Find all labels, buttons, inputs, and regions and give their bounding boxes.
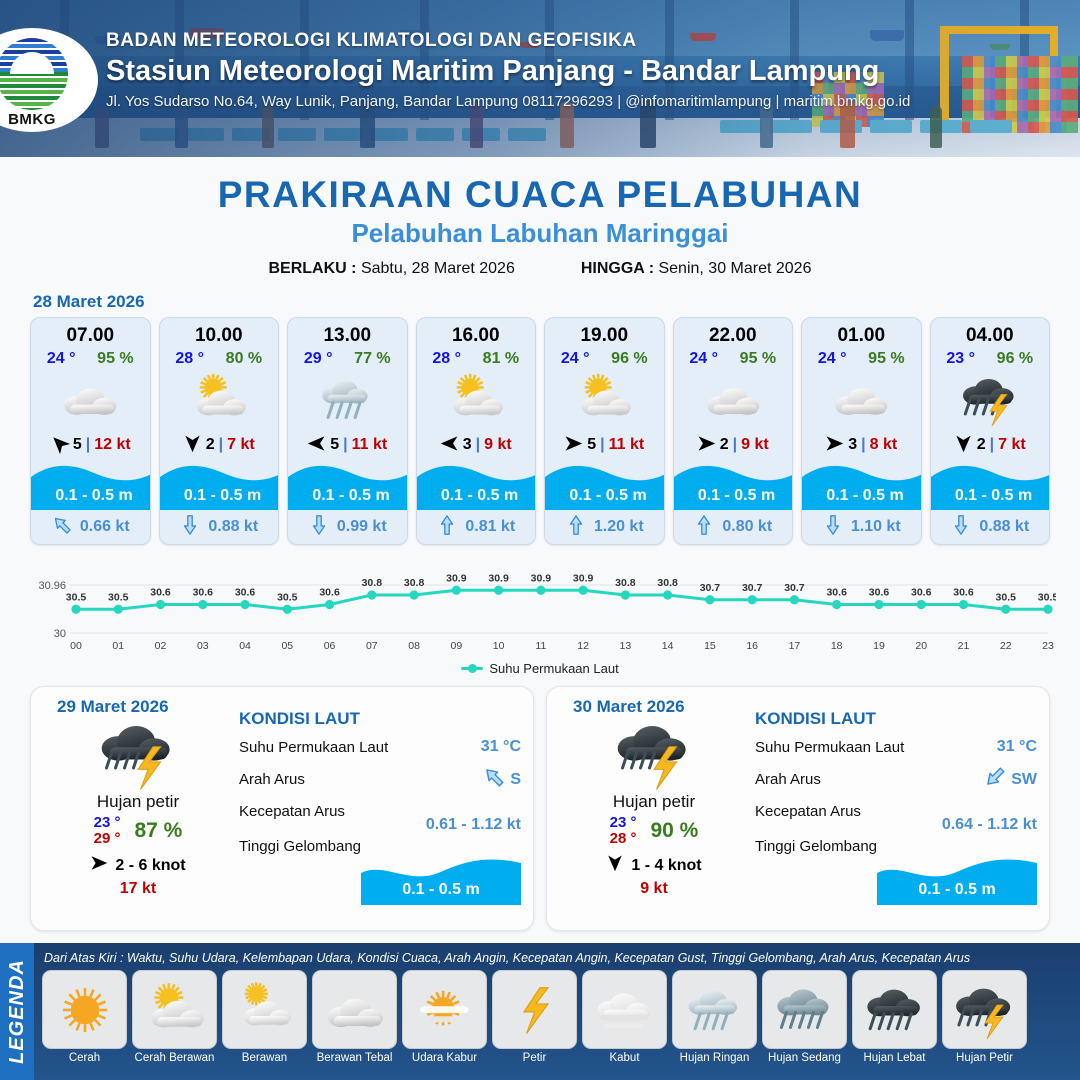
svg-text:19: 19 [873,640,885,652]
sst-label: Suhu Permukaan Laut [239,739,388,756]
sst-value: 31 °C [481,738,521,756]
wind-direction-arrow-icon [50,434,69,456]
sst-chart: 30.963030.50030.50130.60230.60330.60430.… [24,559,1056,659]
legend-item: Cerah Berawan [132,970,217,1064]
panel-wave-block: 0.1 - 0.5 m [877,857,1037,905]
current-speed-value: 0.80 kt [722,518,772,536]
svg-text:30.7: 30.7 [784,582,805,594]
card-wave-block: 0.1 - 0.5 m [802,460,921,510]
valid-until-label: HINGGA : [581,260,654,277]
svg-text:22: 22 [1000,640,1012,652]
panel-wind-direction-arrow-icon [606,854,624,877]
legend-item-label: Petir [492,1052,577,1064]
svg-text:17: 17 [789,640,801,652]
legend-item-label: Hujan Petir [942,1052,1027,1064]
wind-gust-value: 9 kt [484,436,512,454]
card-time: 13.00 [288,325,407,347]
legend-heavy-rain-icon [852,970,937,1049]
card-wave-block: 0.1 - 0.5 m [31,460,150,510]
svg-text:30.8: 30.8 [404,577,425,589]
svg-text:07: 07 [366,640,378,652]
wind-direction-arrow-icon [307,434,326,456]
legend-item-label: Hujan Ringan [672,1052,757,1064]
card-wave-height: 0.1 - 0.5 m [545,487,665,505]
svg-text:30.9: 30.9 [488,572,509,584]
valid-from-label: BERLAKU : [269,260,357,277]
svg-text:13: 13 [620,640,632,652]
svg-text:30: 30 [54,628,66,640]
legend-note: Dari Atas Kiri : Waktu, Suhu Udara, Kele… [44,951,1074,965]
legend-partly-cloudy-icon [132,970,217,1049]
panel-weather-thunderstorm-icon [559,715,749,791]
sst-value: 31 °C [997,738,1037,756]
svg-text:30.5: 30.5 [1038,591,1056,603]
panel-condition: Hujan petir [559,792,749,812]
svg-text:12: 12 [577,640,589,652]
legend-title: LEGENDA [6,959,29,1064]
card-humidity: 95 % [97,350,133,368]
legend-item-label: Hujan Sedang [762,1052,847,1064]
wind-separator: | [343,436,347,454]
panel-wind-range: 2 - 6 knot [115,857,185,875]
header-text-block: BADAN METEOROLOGI KLIMATOLOGI DAN GEOFIS… [106,30,910,110]
card-temperature: 24 ° [47,350,76,368]
svg-text:20: 20 [915,640,927,652]
svg-text:02: 02 [155,640,167,652]
svg-text:18: 18 [831,640,843,652]
station-address: Jl. Yos Sudarso No.64, Way Lunik, Panjan… [106,93,910,110]
current-speed-value: 0.88 kt [208,518,258,536]
card-temperature: 24 ° [689,350,718,368]
svg-text:09: 09 [451,640,463,652]
legend-sunny-icon [42,970,127,1049]
forecast-card[interactable]: 04.00 23 ° 96 % 2 | 7 kt [930,317,1051,545]
wind-gust-value: 11 kt [352,436,388,454]
svg-text:30.6: 30.6 [235,587,256,599]
svg-text:01: 01 [112,640,124,652]
svg-text:06: 06 [324,640,336,652]
wind-gust-value: 12 kt [94,436,130,454]
panel-wind-direction-arrow-icon [90,854,108,877]
legend-item-label: Udara Kabur [402,1052,487,1064]
card-wave-height: 0.1 - 0.5 m [417,487,537,505]
page-subtitle: Pelabuhan Labuhan Maringgai [0,218,1080,249]
station-name: Stasiun Meteorologi Maritim Panjang - Ba… [106,55,910,88]
svg-text:30.8: 30.8 [362,577,383,589]
wind-direction-arrow-icon [564,434,583,456]
forecast-card-list: 07.00 24 ° 95 % 5 | 12 kt 0. [0,317,1080,545]
legend-fog-icon [582,970,667,1049]
svg-text:30.8: 30.8 [615,577,636,589]
legend-item: Hujan Petir [942,970,1027,1064]
svg-text:30.6: 30.6 [826,587,847,599]
panel-wave-block: 0.1 - 0.5 m [361,857,521,905]
panel-gust: 9 kt [559,880,749,898]
svg-text:03: 03 [197,640,209,652]
svg-text:30.5: 30.5 [66,591,87,603]
sst-label: Suhu Permukaan Laut [755,739,904,756]
card-weather-partly-cloudy-icon [545,370,664,428]
svg-text:04: 04 [239,640,251,652]
valid-until: HINGGA : Senin, 30 Maret 2026 [581,260,812,278]
current-direction-value: SW [1011,771,1037,789]
card-time: 22.00 [674,325,793,347]
svg-text:30.7: 30.7 [742,582,763,594]
svg-text:11: 11 [535,640,546,652]
panel-temp-max: 28 ° [610,831,637,847]
chart-legend-marker-icon [461,667,483,670]
wind-separator: | [990,436,994,454]
page-title: PRAKIRAAN CUACA PELABUHAN [0,174,1080,216]
wind-gust-value: 11 kt [609,436,645,454]
daily-summary-list: 29 Maret 2026 Hujan petir 23 ° 29 ° 87 % [0,686,1080,931]
org-name: BADAN METEOROLOGI KLIMATOLOGI DAN GEOFIS… [106,30,910,52]
svg-text:30.6: 30.6 [869,587,890,599]
svg-text:30.5: 30.5 [108,591,129,603]
forecast-card[interactable]: 19.00 24 ° 96 % 5 | 11 kt 0. [544,317,665,545]
wind-direction-arrow-icon [825,434,844,456]
chart-legend-label: Suhu Permukaan Laut [489,661,618,676]
card-humidity: 95 % [740,350,776,368]
current-speed-value: 0.88 kt [979,518,1029,536]
svg-text:30.9: 30.9 [531,572,552,584]
legend-item: Kabut [582,970,667,1064]
legend-item: Cerah [42,970,127,1064]
legend-thunderstorm-icon [942,970,1027,1049]
svg-text:30.7: 30.7 [700,582,721,594]
legend-item-label: Kabut [582,1052,667,1064]
wind-separator: | [86,436,90,454]
card-humidity: 81 % [483,350,519,368]
card-wave-block: 0.1 - 0.5 m [545,460,664,510]
card-weather-partly-cloudy-icon [160,370,279,428]
current-direction-arrow-icon [693,514,715,541]
valid-from: BERLAKU : Sabtu, 28 Maret 2026 [269,260,515,278]
wind-gust-value: 9 kt [741,436,769,454]
legend-moderate-rain-icon [762,970,847,1049]
svg-text:00: 00 [70,640,82,652]
card-time: 07.00 [31,325,150,347]
forecast-card[interactable]: 01.00 24 ° 95 % 3 | 8 kt 0.1 [801,317,922,545]
panel-temp-max: 29 ° [94,831,121,847]
card-wave-height: 0.1 - 0.5 m [802,487,922,505]
current-direction-arrow-icon [950,514,972,541]
card-humidity: 96 % [997,350,1033,368]
panel-temp-min: 23 ° [610,815,637,831]
svg-text:30.9: 30.9 [573,572,594,584]
legend-item: Petir [492,970,577,1064]
current-direction-arrow-icon [436,514,458,541]
current-direction-arrow-icon [565,514,587,541]
current-direction-arrow-icon [179,514,201,541]
logo-emblem-icon [0,38,68,110]
panel-wave-value: 0.1 - 0.5 m [361,881,521,899]
legend-item-list: Cerah Cerah Berawan Berawan [42,970,1074,1064]
card-temperature: 28 ° [432,350,461,368]
legend-item-label: Berawan [222,1052,307,1064]
card-wave-height: 0.1 - 0.5 m [931,487,1051,505]
card-temperature: 24 ° [818,350,847,368]
legend-mostly-cloudy-icon [222,970,307,1049]
card-temperature: 29 ° [304,350,333,368]
svg-text:30.6: 30.6 [319,587,340,599]
card-humidity: 95 % [868,350,904,368]
card-weather-cloudy-icon [674,370,793,428]
current-speed-value: 1.20 kt [594,518,644,536]
panel-gust: 17 kt [43,880,233,898]
svg-text:30.5: 30.5 [277,591,298,603]
wind-direction-value: 5 [330,436,339,454]
svg-text:21: 21 [958,640,970,652]
svg-text:05: 05 [281,640,293,652]
wind-direction-value: 3 [463,436,472,454]
card-time: 16.00 [417,325,536,347]
card-humidity: 77 % [354,350,390,368]
card-temperature: 23 ° [946,350,975,368]
svg-text:30.9: 30.9 [446,572,467,584]
card-humidity: 96 % [611,350,647,368]
wind-gust-value: 7 kt [227,436,255,454]
card-wave-height: 0.1 - 0.5 m [31,487,151,505]
card-time: 19.00 [545,325,664,347]
current-speed-value: 0.81 kt [465,518,515,536]
valid-until-value: Senin, 30 Maret 2026 [658,260,811,277]
legend-item: Berawan Tebal [312,970,397,1064]
wind-separator: | [600,436,604,454]
logo-text: BMKG [0,111,70,128]
current-direction-arrow-icon [308,514,330,541]
legend-cloudy-icon [312,970,397,1049]
card-time: 10.00 [160,325,279,347]
wind-gust-value: 8 kt [870,436,898,454]
current-speed-value: 1.10 kt [851,518,901,536]
daily-summary-panel[interactable]: 29 Maret 2026 Hujan petir 23 ° 29 ° 87 % [30,686,534,931]
card-temperature: 24 ° [561,350,590,368]
panel-humidity: 90 % [650,819,698,843]
svg-text:30.5: 30.5 [996,591,1017,603]
panel-weather-thunderstorm-icon [43,715,233,791]
forecast-date-label: 28 Maret 2026 [33,292,1080,312]
sea-condition-title: KONDISI LAUT [239,709,521,729]
svg-text:14: 14 [662,640,674,652]
card-temperature: 28 ° [175,350,204,368]
wind-separator: | [476,436,480,454]
card-time: 01.00 [802,325,921,347]
chart-legend: Suhu Permukaan Laut [0,661,1080,676]
card-time: 04.00 [931,325,1050,347]
wind-direction-value: 5 [73,436,82,454]
legend-item: Udara Kabur [402,970,487,1064]
card-weather-partly-cloudy-icon [417,370,536,428]
card-wave-block: 0.1 - 0.5 m [417,460,536,510]
card-weather-cloudy-icon [802,370,921,428]
forecast-card[interactable]: 13.00 29 ° 77 % 5 | 11 kt 0. [287,317,408,545]
current-direction-value: S [510,771,521,789]
daily-summary-panel[interactable]: 30 Maret 2026 Hujan petir 23 ° 28 ° 90 % [546,686,1050,931]
card-wave-height: 0.1 - 0.5 m [160,487,280,505]
wind-direction-arrow-icon [183,434,202,456]
sst-chart-svg: 30.963030.50030.50130.60230.60330.60430.… [24,559,1056,659]
panel-current-direction-arrow-icon [983,765,1007,794]
wind-direction-value: 2 [977,436,986,454]
svg-text:30.6: 30.6 [953,587,974,599]
current-direction-arrow-icon [822,514,844,541]
card-wave-height: 0.1 - 0.5 m [674,487,794,505]
validity-row: BERLAKU : Sabtu, 28 Maret 2026 HINGGA : … [0,260,1080,278]
wind-direction-value: 2 [720,436,729,454]
legend-section: LEGENDA Dari Atas Kiri : Waktu, Suhu Uda… [0,943,1080,1080]
legend-lightning-icon [492,970,577,1049]
svg-text:30.6: 30.6 [193,587,214,599]
wind-separator: | [861,436,865,454]
svg-text:23: 23 [1042,640,1054,652]
current-direction-arrow-icon [51,514,73,541]
panel-wave-value: 0.1 - 0.5 m [877,881,1037,899]
forecast-card[interactable]: 07.00 24 ° 95 % 5 | 12 kt 0. [30,317,151,545]
forecast-card[interactable]: 10.00 28 ° 80 % 2 | 7 kt 0.1 [159,317,280,545]
card-weather-cloudy-icon [31,370,150,428]
card-weather-thunderstorm-icon [931,370,1050,428]
svg-text:15: 15 [704,640,716,652]
card-weather-light-rain-icon [288,370,407,428]
wind-direction-arrow-icon [697,434,716,456]
legend-item-label: Cerah Berawan [132,1052,217,1064]
legend-light-rain-icon [672,970,757,1049]
card-wave-block: 0.1 - 0.5 m [674,460,793,510]
svg-text:08: 08 [408,640,420,652]
legend-item: Berawan [222,970,307,1064]
card-wave-block: 0.1 - 0.5 m [288,460,407,510]
current-direction-label: Arah Arus [239,771,305,788]
current-direction-label: Arah Arus [755,771,821,788]
legend-item: Hujan Lebat [852,970,937,1064]
wind-gust-value: 7 kt [998,436,1026,454]
svg-text:30.96: 30.96 [38,580,66,592]
panel-temp-min: 23 ° [94,815,121,831]
page-header: BMKG BADAN METEOROLOGI KLIMATOLOGI DAN G… [0,0,1080,157]
panel-humidity: 87 % [134,819,182,843]
current-speed-value: 0.99 kt [337,518,387,536]
card-humidity: 80 % [226,350,262,368]
wind-direction-value: 5 [587,436,596,454]
svg-text:30.8: 30.8 [657,577,678,589]
legend-title-bar: LEGENDA [0,943,34,1080]
svg-text:30.6: 30.6 [150,587,171,599]
panel-wind-range: 1 - 4 knot [631,857,701,875]
wind-direction-value: 2 [206,436,215,454]
wind-direction-value: 3 [848,436,857,454]
current-speed-value: 0.66 kt [80,518,130,536]
wind-direction-arrow-icon [954,434,973,456]
card-wave-height: 0.1 - 0.5 m [288,487,408,505]
svg-text:30.6: 30.6 [911,587,932,599]
wind-separator: | [219,436,223,454]
legend-item-label: Hujan Lebat [852,1052,937,1064]
current-speed-label: Kecepatan Arus [755,803,861,820]
current-speed-label: Kecepatan Arus [239,803,345,820]
wave-height-label: Tinggi Gelombang [239,838,361,855]
panel-condition: Hujan petir [43,792,233,812]
legend-item-label: Cerah [42,1052,127,1064]
card-wave-block: 0.1 - 0.5 m [931,460,1050,510]
svg-text:16: 16 [746,640,758,652]
legend-item: Hujan Ringan [672,970,757,1064]
sea-condition-title: KONDISI LAUT [755,709,1037,729]
legend-item: Hujan Sedang [762,970,847,1064]
wind-separator: | [733,436,737,454]
card-wave-block: 0.1 - 0.5 m [160,460,279,510]
svg-text:10: 10 [493,640,505,652]
wave-height-label: Tinggi Gelombang [755,838,877,855]
legend-item-label: Berawan Tebal [312,1052,397,1064]
forecast-card[interactable]: 22.00 24 ° 95 % 2 | 9 kt 0.1 [673,317,794,545]
wind-direction-arrow-icon [440,434,459,456]
forecast-card[interactable]: 16.00 28 ° 81 % 3 | 9 kt 0.1 [416,317,537,545]
valid-from-value: Sabtu, 28 Maret 2026 [361,260,515,277]
legend-haze-icon [402,970,487,1049]
panel-current-direction-arrow-icon [482,765,506,794]
